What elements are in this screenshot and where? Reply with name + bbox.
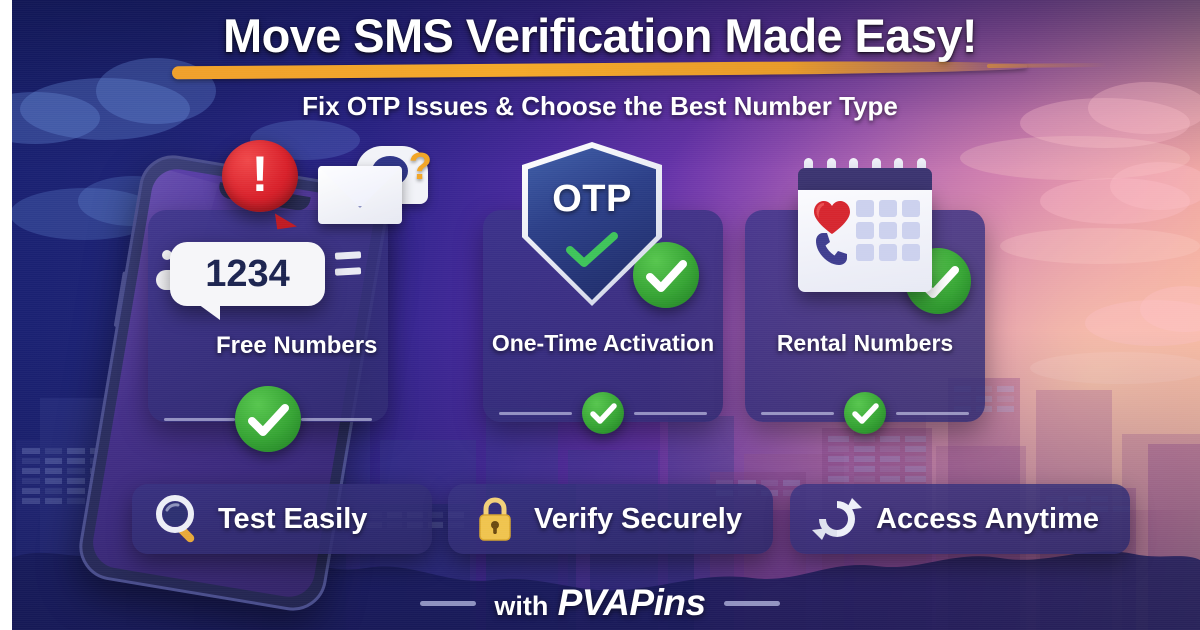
brand-name: PVAPins: [558, 582, 706, 623]
calendar-header-bar: [798, 168, 932, 192]
benefit-pill-verify-securely[interactable]: Verify Securely: [448, 484, 773, 554]
calendar-icon: [790, 160, 940, 300]
green-check-icon: [844, 392, 886, 434]
phone-handset-icon: [814, 230, 852, 268]
brand-divider-right: [724, 601, 780, 606]
envelope-icon: [318, 166, 402, 224]
calendar-body: [798, 190, 932, 292]
brand-text: with PVAPins: [494, 582, 705, 624]
page-title: Move SMS Verification Made Easy!: [0, 8, 1200, 63]
left-edge-frame: [0, 0, 12, 630]
promo-banner: Move SMS Verification Made Easy! Fix OTP…: [0, 0, 1200, 630]
feature-card-label: Free Numbers: [216, 332, 468, 360]
divider-right: [301, 418, 372, 421]
sms-code-bubble: 1234: [170, 242, 325, 306]
green-check-icon: [235, 386, 301, 452]
feature-card-label: One-Time Activation: [483, 330, 723, 357]
alert-exclamation-glyph: !: [252, 149, 269, 199]
otp-shield-icon: OTP: [528, 148, 656, 300]
divider-left: [499, 412, 572, 415]
feature-card-footer: [164, 386, 372, 452]
green-check-icon: [582, 392, 624, 434]
feature-card-label: Rental Numbers: [745, 330, 985, 357]
footer-brand: with PVAPins: [0, 582, 1200, 624]
calendar-day-grid: [856, 200, 922, 261]
brand-divider-left: [420, 601, 476, 606]
shield-check-icon: [562, 230, 622, 270]
title-underline-wrap: [0, 63, 1200, 79]
alert-exclamation-icon: !: [222, 140, 298, 212]
benefit-pill-label: Access Anytime: [876, 503, 1099, 536]
refresh-sync-icon: [812, 494, 862, 544]
brand-with-label: with: [494, 591, 548, 621]
divider-left: [761, 412, 834, 415]
magnifier-icon: [154, 494, 204, 544]
benefit-pill-test-easily[interactable]: Test Easily: [132, 484, 432, 554]
divider-right: [634, 412, 707, 415]
benefit-pill-label: Verify Securely: [534, 503, 742, 536]
title-underline-swoosh: [172, 60, 1027, 80]
question-mark-icon: ?: [409, 148, 432, 186]
benefit-pill-access-anytime[interactable]: Access Anytime: [790, 484, 1130, 554]
sms-typing-dashes-icon: [335, 252, 361, 284]
divider-right: [896, 412, 969, 415]
shield-otp-label: OTP: [528, 178, 656, 221]
feature-card-footer: [499, 392, 707, 434]
shield-body: [528, 148, 656, 300]
benefit-pill-row: Test Easily Verify Securely: [0, 484, 1200, 558]
mail-question-group: ?: [318, 146, 430, 232]
padlock-icon: [470, 494, 520, 544]
feature-card-footer: [761, 392, 969, 434]
page-subtitle: Fix OTP Issues & Choose the Best Number …: [0, 91, 1200, 122]
divider-left: [164, 418, 235, 421]
banner-header: Move SMS Verification Made Easy! Fix OTP…: [0, 0, 1200, 122]
benefit-pill-label: Test Easily: [218, 503, 367, 536]
sms-code-value: 1234: [205, 253, 290, 296]
